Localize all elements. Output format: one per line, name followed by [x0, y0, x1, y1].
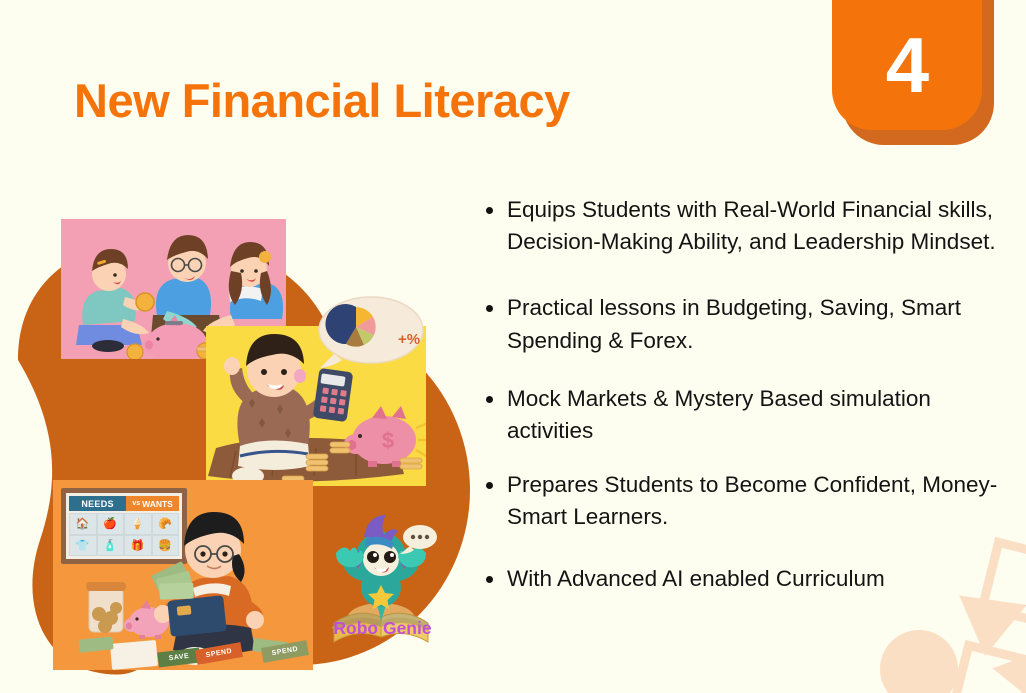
- panel-girl-budgeting-room: NEEDS vsWANTS 🏠 🍎 🍦 🥐 👕 🧴 🎁 🍔: [53, 480, 313, 670]
- bullet-list: Equips Students with Real-World Financia…: [486, 194, 1010, 618]
- bullet-text: Mock Markets & Mystery Based simulation …: [507, 383, 1010, 447]
- bullet-text: With Advanced AI enabled Curriculum: [507, 563, 885, 595]
- bullet-dot-icon: [486, 305, 493, 312]
- bullet-dot-icon: [486, 396, 493, 403]
- slide-canvas: 4 New Financial Literacy Equips Students…: [0, 0, 1026, 693]
- page-title: New Financial Literacy: [74, 73, 570, 128]
- list-item: Equips Students with Real-World Financia…: [486, 194, 1010, 258]
- bullet-dot-icon: [486, 576, 493, 583]
- slide-number-badge: 4: [832, 0, 994, 145]
- pie-chart-icon: +%: [316, 294, 426, 372]
- financial-literacy-illustration: $: [0, 160, 470, 693]
- bullet-dot-icon: [486, 482, 493, 489]
- pie-chart-label: +%: [398, 331, 420, 348]
- deco-square-outline-icon: [947, 640, 1026, 693]
- svg-text:$: $: [382, 428, 394, 453]
- bullet-text: Prepares Students to Become Confident, M…: [507, 469, 1010, 533]
- badge-front-layer: 4: [832, 0, 982, 130]
- tag-label: SAVE: [168, 653, 189, 662]
- list-item: Practical lessons in Budgeting, Saving, …: [486, 292, 1010, 356]
- list-item: Mock Markets & Mystery Based simulation …: [486, 383, 1010, 447]
- pie-chart-speech-bubble: +%: [316, 294, 426, 372]
- list-item: With Advanced AI enabled Curriculum: [486, 563, 1010, 595]
- deco-triangle-icon: [992, 645, 1026, 693]
- bullet-text: Equips Students with Real-World Financia…: [507, 194, 1010, 258]
- tag-label: SPEND: [271, 646, 298, 658]
- bullet-text: Practical lessons in Budgeting, Saving, …: [507, 292, 1010, 356]
- deco-circle-icon: [880, 630, 958, 693]
- bullet-dot-icon: [486, 207, 493, 214]
- tag-label: SPEND: [205, 648, 232, 660]
- list-item: Prepares Students to Become Confident, M…: [486, 469, 1010, 533]
- girl-budgeting-illustration-icon: [53, 480, 313, 670]
- badge-number: 4: [886, 26, 928, 104]
- mascot-label: Robo Genie: [320, 618, 445, 639]
- panel-boy-calculator-piggy: $: [206, 326, 426, 486]
